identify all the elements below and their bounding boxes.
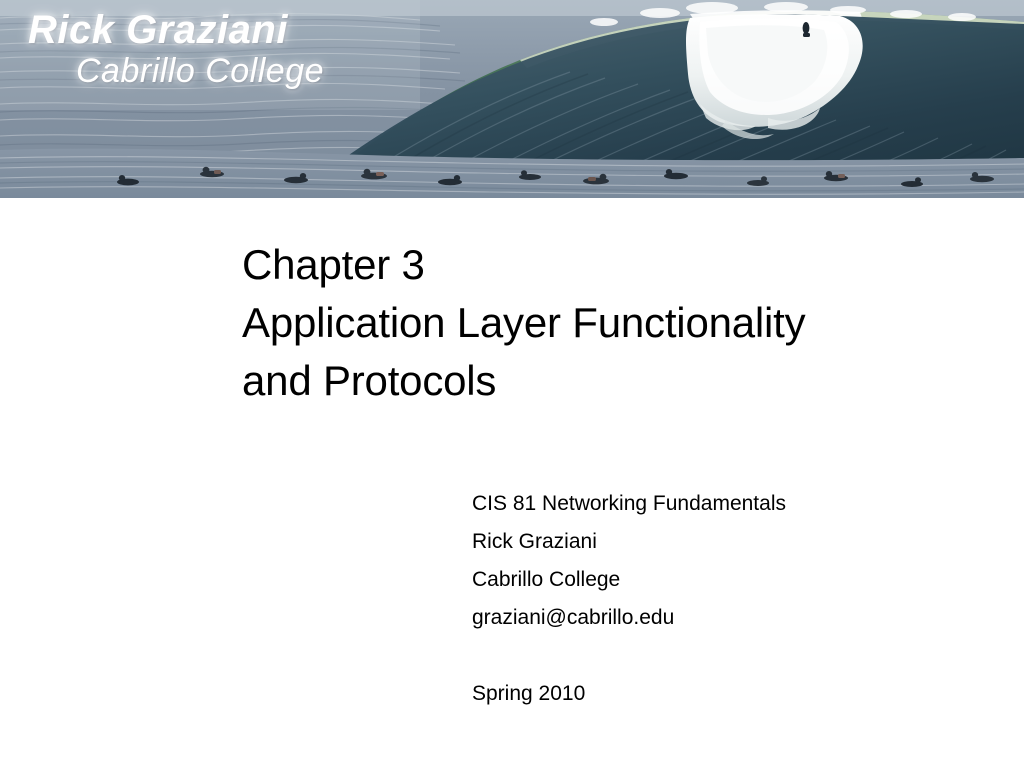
slide-subtitle: CIS 81 Networking Fundamentals Rick Graz… bbox=[472, 485, 992, 713]
slide-title: Chapter 3 Application Layer Functionalit… bbox=[242, 236, 1002, 410]
subtitle-term: Spring 2010 bbox=[472, 675, 992, 713]
ocean-wave-illustration bbox=[0, 0, 1024, 198]
subtitle-blank-line bbox=[472, 637, 992, 675]
title-line-1: Chapter 3 bbox=[242, 236, 1002, 294]
title-line-2: Application Layer Functionality bbox=[242, 294, 1002, 352]
title-line-3: and Protocols bbox=[242, 352, 1002, 410]
subtitle-author: Rick Graziani bbox=[472, 523, 992, 561]
subtitle-institution: Cabrillo College bbox=[472, 561, 992, 599]
subtitle-email: graziani@cabrillo.edu bbox=[472, 599, 992, 637]
presentation-slide: Rick Graziani Cabrillo College Chapter 3… bbox=[0, 0, 1024, 768]
subtitle-course: CIS 81 Networking Fundamentals bbox=[472, 485, 992, 523]
banner-photo bbox=[0, 0, 1024, 198]
